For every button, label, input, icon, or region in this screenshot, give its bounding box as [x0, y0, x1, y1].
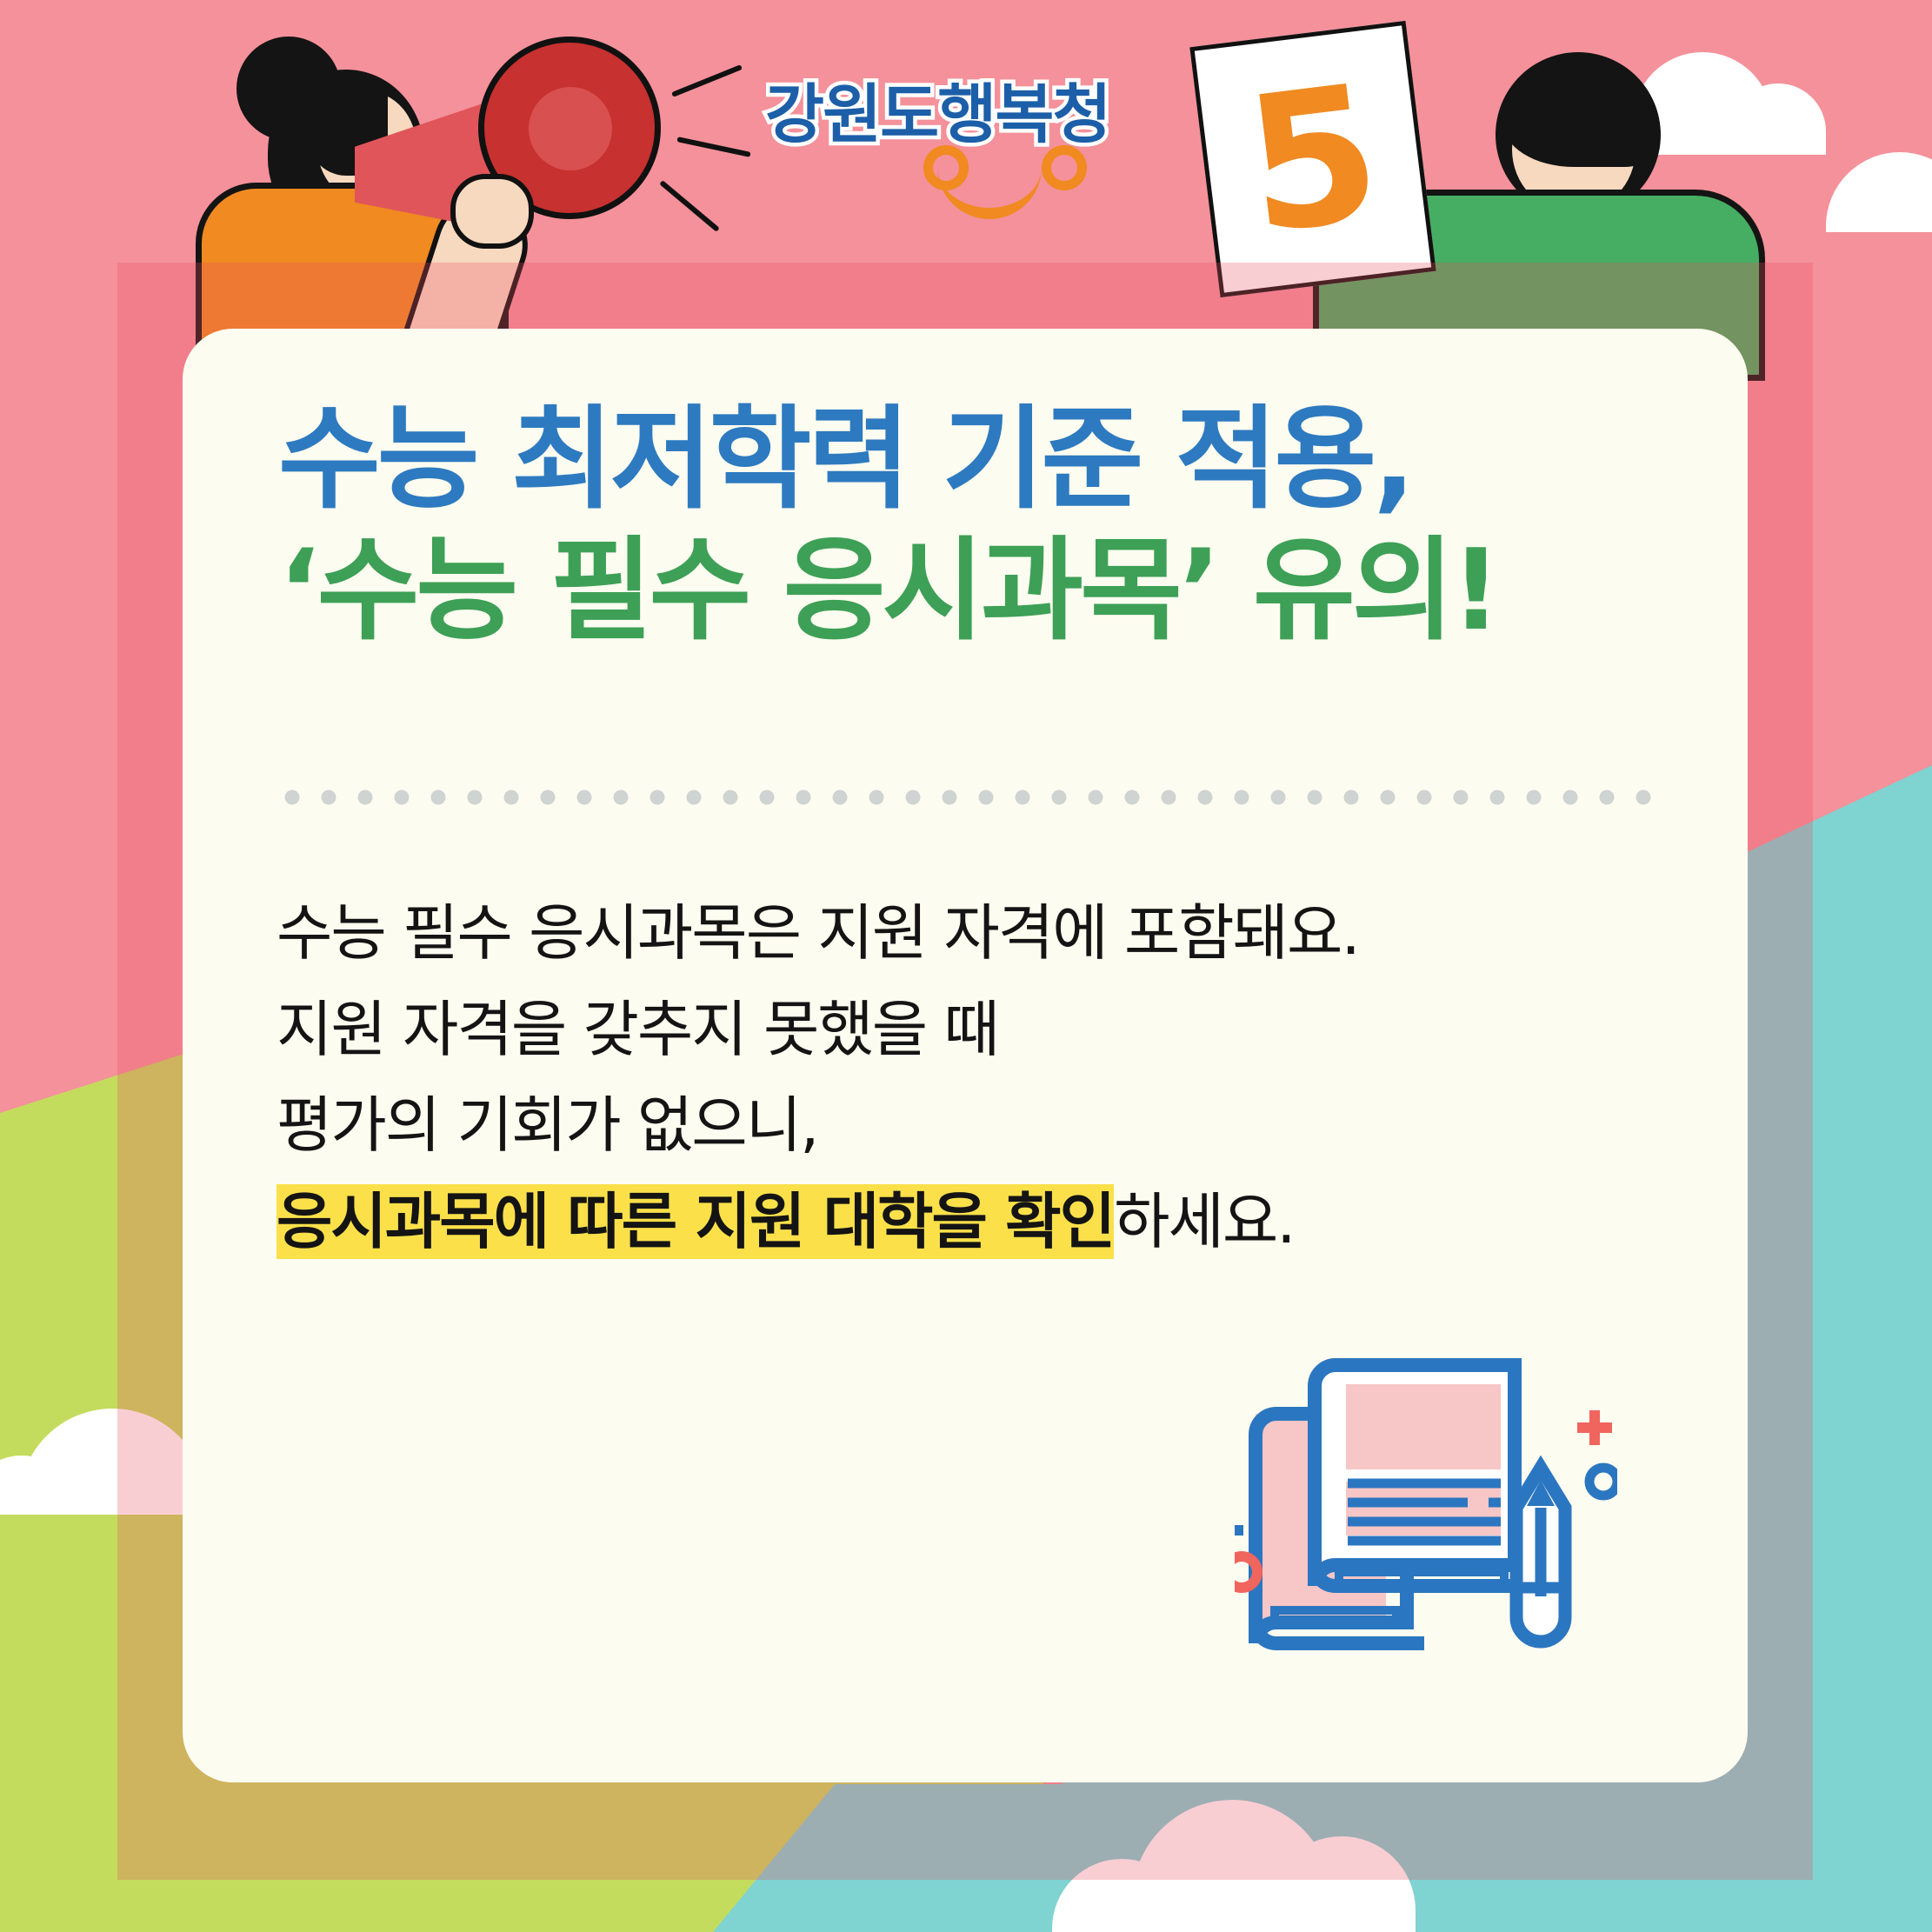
brand-logo-text: 강원도행복청	[765, 83, 1096, 147]
body-line-3: 평가의 기회가 없으니,	[276, 1077, 1685, 1174]
card-title: 수능 최저학력 기준 적용, ‘수능 필수 응시과목’ 유의!	[278, 394, 1704, 656]
content-card: 수능 최저학력 기준 적용, ‘수능 필수 응시과목’ 유의! 수능 필수 응시…	[183, 329, 1748, 1782]
body-line-4-highlight: 응시과목에 따른 지원 대학을 확인	[276, 1184, 1114, 1259]
megaphone-disc-inner	[529, 87, 612, 170]
logo-dot-orange-right	[1042, 145, 1087, 190]
brand-logo: 강원도행복청	[765, 83, 1096, 196]
body-line-2: 지원 자격을 갖추지 못했을 때	[276, 982, 1685, 1078]
placard-number-5: 5	[1189, 21, 1436, 297]
title-line-1: 수능 최저학력 기준 적용,	[278, 394, 1704, 525]
hand-holding-megaphone	[450, 174, 534, 249]
body-line-4: 응시과목에 따른 지원 대학을 확인하세요.	[276, 1174, 1685, 1270]
megaphone-sound-line	[671, 64, 743, 97]
poster-canvas: 5 강원도행복청 수능 최저학력 기준 적용, ‘수능 필수 응시과목’ 유의!…	[0, 0, 1932, 1932]
megaphone-sound-line	[676, 137, 750, 157]
body-line-1: 수능 필수 응시과목은 지원 자격에 포함돼요.	[276, 885, 1685, 982]
books-and-pencil-icon	[1235, 1339, 1617, 1687]
hair-man-fringe	[1502, 70, 1656, 167]
megaphone-sound-line	[659, 180, 720, 232]
dotted-divider	[274, 789, 1656, 805]
card-body: 수능 필수 응시과목은 지원 자격에 포함돼요. 지원 자격을 갖추지 못했을 …	[276, 885, 1685, 1269]
title-line-2: ‘수능 필수 응시과목’ 유의!	[278, 525, 1704, 656]
body-line-4-tail: 하세요.	[1114, 1186, 1294, 1257]
placard-number-text: 5	[1237, 58, 1389, 260]
